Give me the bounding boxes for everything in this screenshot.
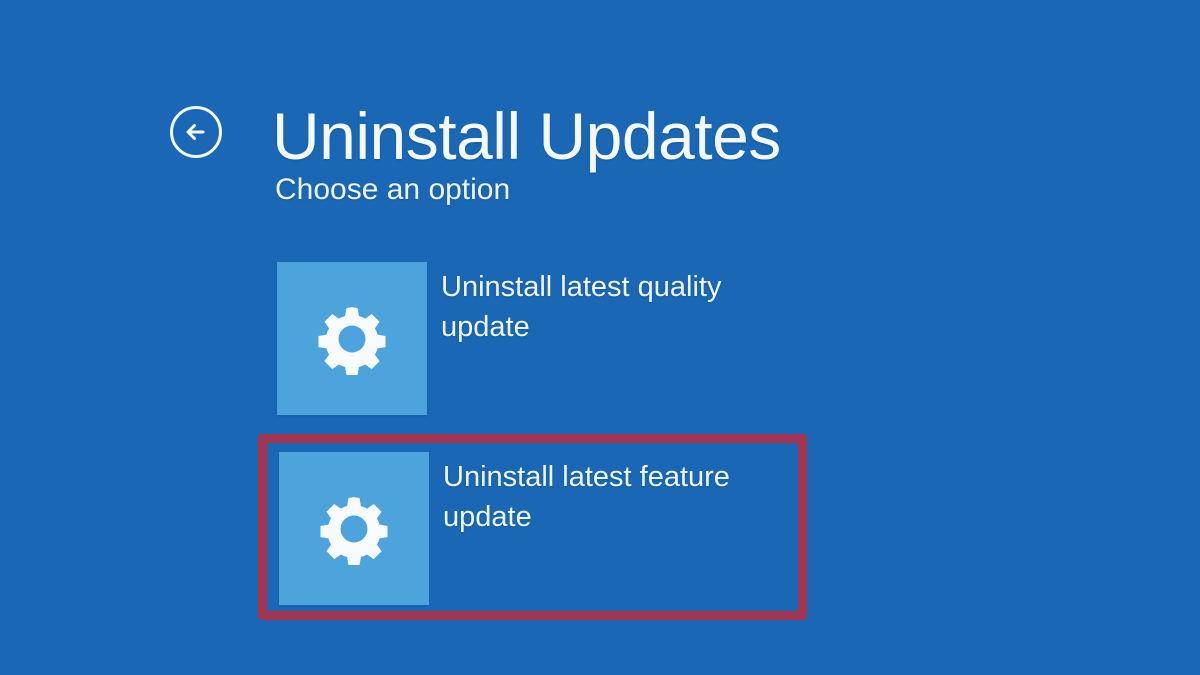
option-tile <box>277 262 427 415</box>
option-tile <box>279 452 429 605</box>
gear-icon <box>312 487 396 571</box>
gear-icon <box>310 297 394 381</box>
option-label: Uninstall latest feature update <box>443 457 773 537</box>
option-uninstall-latest-feature-update[interactable]: Uninstall latest feature update <box>279 452 773 605</box>
option-label: Uninstall latest quality update <box>441 267 771 347</box>
options-list: Uninstall latest quality update Uninstal… <box>0 0 1200 675</box>
uninstall-updates-screen: Uninstall Updates Choose an option Unins… <box>0 0 1200 675</box>
option-uninstall-latest-quality-update[interactable]: Uninstall latest quality update <box>277 262 771 415</box>
